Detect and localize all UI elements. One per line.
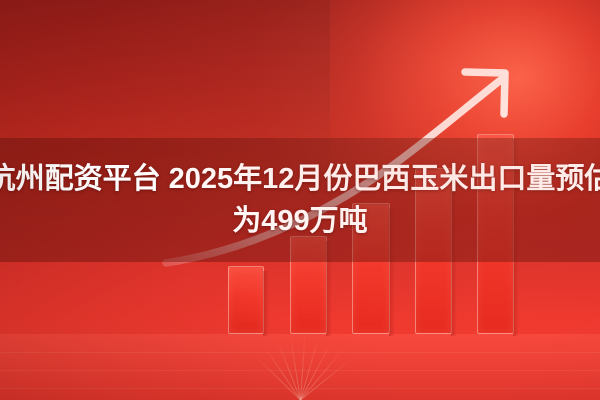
headline-line-2: 为499万吨 [232, 202, 367, 240]
banner-image: 杭州配资平台 2025年12月份巴西玉米出口量预估 为499万吨 [0, 0, 600, 400]
bar-1 [228, 266, 264, 334]
headline-line-1: 杭州配资平台 2025年12月份巴西玉米出口量预估 [0, 160, 600, 198]
headline: 杭州配资平台 2025年12月份巴西玉米出口量预估 为499万吨 [0, 138, 600, 262]
